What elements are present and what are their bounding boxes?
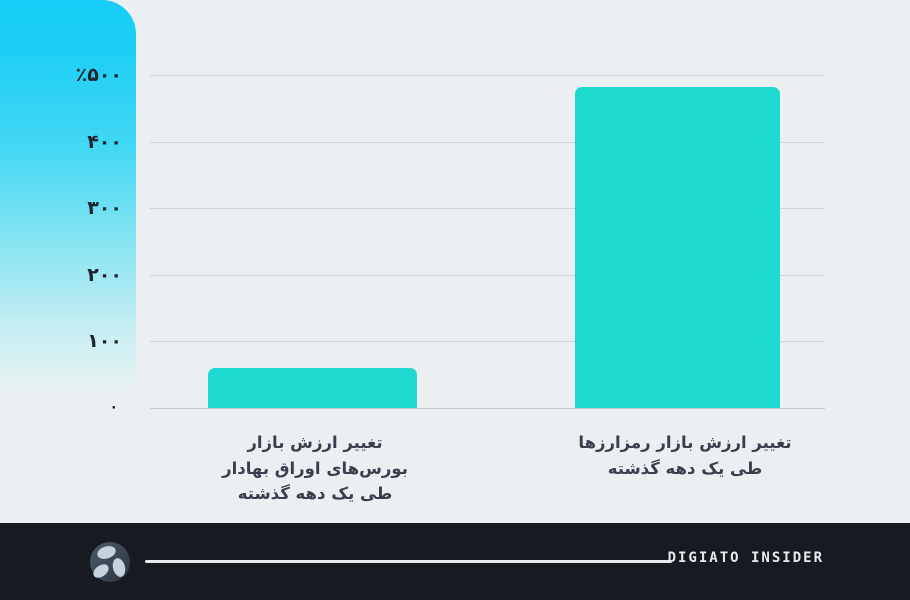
bar-series: [136, 0, 910, 420]
category-label-stock-exchanges: تغییر ارزش بازار بورس‌های اوراق بهادار ط…: [195, 430, 435, 507]
footer-bar: DIGIATO INSIDER: [0, 523, 910, 600]
plot-area: [136, 0, 910, 420]
category-label-stock-line2: بورس‌های اوراق بهادار: [195, 456, 435, 482]
category-label-stock-line3: طی یک دهه گذشته: [195, 481, 435, 507]
category-label-crypto-line2: طی یک دهه گذشته: [565, 456, 805, 482]
category-label-crypto-line1: تغییر ارزش بازار رمزارزها: [565, 430, 805, 456]
y-axis-tick-0: ۰: [109, 399, 118, 415]
footer-divider-rule: [145, 560, 672, 563]
bar-crypto[interactable]: [575, 87, 780, 408]
infographic-root: ٪۵۰۰ ۴۰۰ ۳۰۰ ۲۰۰ ۱۰۰ ۰ تغییر ارزش بازار …: [0, 0, 910, 600]
y-axis-tick-100: ۱۰۰: [87, 330, 122, 352]
footer-brand-label: DIGIATO INSIDER: [668, 550, 824, 566]
category-label-crypto: تغییر ارزش بازار رمزارزها طی یک دهه گذشت…: [565, 430, 805, 481]
y-axis-tick-300: ۳۰۰: [87, 197, 122, 219]
category-label-stock-line1: تغییر ارزش بازار: [195, 430, 435, 456]
y-axis-tick-400: ۴۰۰: [87, 131, 122, 153]
y-axis-labels: ٪۵۰۰ ۴۰۰ ۳۰۰ ۲۰۰ ۱۰۰ ۰: [0, 0, 136, 420]
bar-stock-exchanges[interactable]: [208, 368, 417, 408]
digiato-logo-icon: [88, 540, 132, 584]
y-axis-tick-500: ٪۵۰۰: [76, 64, 122, 86]
y-axis-tick-200: ۲۰۰: [87, 264, 122, 286]
